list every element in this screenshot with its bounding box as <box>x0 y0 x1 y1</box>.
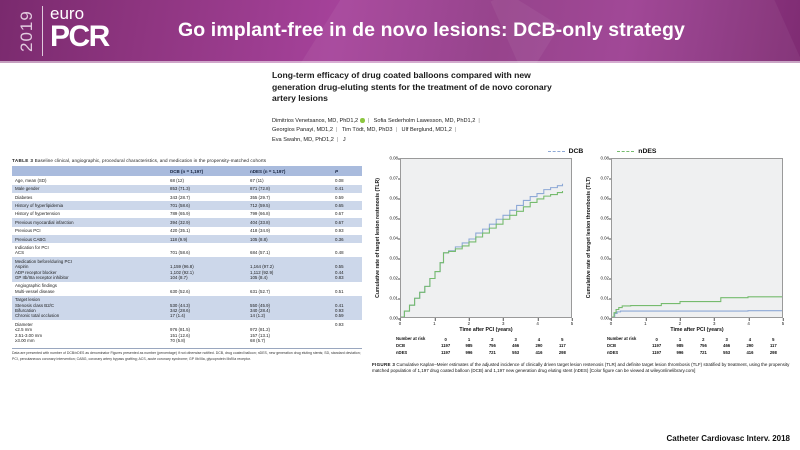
risk-time-header: 4 <box>527 336 550 343</box>
chart-legend: DCB nDES <box>372 148 792 155</box>
cell-dcb: 68 (12) <box>167 176 247 184</box>
cell-dcb: 530 (44.3) 342 (28.6) 17 (1.4) <box>167 296 247 321</box>
cell-ndes: 418 (34.9) <box>247 227 332 235</box>
series-line-dcb <box>401 184 563 317</box>
series-line-ndes <box>612 296 782 317</box>
chart-tlr-ylabel: Cumulative rate of target lesion resteno… <box>372 158 384 318</box>
chart-tlt: Cumulative rate of target lesion thrombo… <box>583 158 788 356</box>
figure-label: FIGURE 3 <box>372 362 395 367</box>
x-tick-label: 5 <box>782 321 784 326</box>
risk-value: 721 <box>481 349 504 356</box>
risk-value: 290 <box>738 343 761 350</box>
series-line-dcb <box>612 310 782 317</box>
cell-p: 0.08 <box>332 176 362 184</box>
y-tick-label: 0.04 <box>389 236 398 241</box>
cell-ndes: 550 (45.9) 340 (28.4) 14 (1.2) <box>247 296 332 321</box>
chart-tlt-plot <box>611 158 783 318</box>
table-row: Indication for PCI ACS 701 (58.6) 684 (5… <box>12 243 362 257</box>
col-header-dcb: DCB (n = 1,197) <box>167 166 247 176</box>
risk-row: DCB1197985756466290117 <box>605 343 785 350</box>
cell-ndes: 972 (81.2) 157 (13.1) 68 (5.7) <box>247 320 332 345</box>
table-row: History of hyperlipidemia701 (58.6)712 (… <box>12 201 362 209</box>
row-label: Previous CABG <box>12 235 167 243</box>
table-row: Diabetes343 (28.7)355 (29.7)0.59 <box>12 193 362 201</box>
risk-row-label: DCB <box>605 343 645 350</box>
table-header-row: DCB (n = 1,197) nDES (n = 1,197) P <box>12 166 362 176</box>
cell-dcb: 789 (65.9) <box>167 210 247 218</box>
risk-header-row: Number at risk012345 <box>394 336 574 343</box>
risk-value: 298 <box>551 349 574 356</box>
cell-dcb: 1,159 (96.8) 1,102 (92.1) 104 (8.7) <box>167 257 247 282</box>
y-tick-label: 0.02 <box>389 276 398 281</box>
risk-value: 756 <box>481 343 504 350</box>
cell-ndes: 712 (59.5) <box>247 201 332 209</box>
risk-time-header: 4 <box>738 336 761 343</box>
x-tick-label: 4 <box>747 321 749 326</box>
legend-label: nDES <box>638 148 656 155</box>
chart-tlr-yticks: 0.000.010.020.030.040.050.060.070.08 <box>384 158 400 318</box>
risk-time-header: 5 <box>551 336 574 343</box>
orcid-icon <box>360 118 365 123</box>
table-footnote: Data are presented with number of DCB/nD… <box>12 348 362 362</box>
table-row: Previous CABG118 (9.9)105 (8.8)0.36 <box>12 235 362 243</box>
cell-ndes: 404 (33.8) <box>247 218 332 226</box>
risk-time-header: 2 <box>481 336 504 343</box>
slide-header: 2019 euro PCR Go implant-free in de novo… <box>0 0 800 63</box>
risk-time-header: 3 <box>504 336 527 343</box>
x-tick-label: 3 <box>502 321 504 326</box>
cell-p: 0.48 <box>332 243 362 257</box>
risk-value: 117 <box>762 343 785 350</box>
paper-title: Long-term efficacy of drug coated balloo… <box>272 70 562 105</box>
chart-tlr-plot <box>400 158 572 318</box>
risk-value: 756 <box>692 343 715 350</box>
cell-ndes: 631 (52.7) <box>247 282 332 296</box>
y-tick-label: 0.07 <box>600 176 609 181</box>
y-tick-label: 0.00 <box>389 316 398 321</box>
cell-p: 0.36 <box>332 235 362 243</box>
risk-value: 290 <box>527 343 550 350</box>
risk-value: 985 <box>668 343 691 350</box>
risk-value: 1197 <box>645 349 668 356</box>
table-row: History of hypertension789 (65.9)799 (66… <box>12 210 362 218</box>
table-row: Target lesion Stenosis class B2/C Bifurc… <box>12 296 362 321</box>
cell-p: 0.67 <box>332 218 362 226</box>
author-name: Eva Swahn, MD, PhD1,2 <box>272 137 334 143</box>
y-tick-label: 0.02 <box>600 276 609 281</box>
chart-tlt-xlabel: Time after PCI (years) <box>611 327 783 333</box>
risk-time-header: 5 <box>762 336 785 343</box>
risk-value: 1197 <box>645 343 668 350</box>
col-header-blank <box>12 166 167 176</box>
risk-value: 1197 <box>434 343 457 350</box>
europcr-logo: 2019 euro PCR <box>18 6 109 58</box>
x-tick-label: 1 <box>644 321 646 326</box>
baseline-table-block: TABLE 3 Baseline clinical, angiographic,… <box>12 158 362 362</box>
risk-value: 996 <box>668 349 691 356</box>
risk-value: 721 <box>692 349 715 356</box>
cell-p: 0.59 <box>332 193 362 201</box>
y-tick-label: 0.04 <box>600 236 609 241</box>
journal-citation: Catheter Cardiovasc Interv. 2018 <box>667 434 790 443</box>
risk-value: 466 <box>715 343 738 350</box>
cell-dcb: 420 (35.1) <box>167 227 247 235</box>
row-label: Male gender <box>12 185 167 193</box>
row-label: Diameter ≤2.5 mm 2.51-3.00 mm ≥3.00 mm <box>12 320 167 345</box>
table-row: Angiographic findings Multi-vessel disea… <box>12 282 362 296</box>
table-row: Previous PCI420 (35.1)418 (34.9)0.93 <box>12 227 362 235</box>
risk-row: nDES1197996721553416298 <box>605 349 785 356</box>
cell-ndes: 799 (66.8) <box>247 210 332 218</box>
row-label: Target lesion Stenosis class B2/C Bifurc… <box>12 296 167 321</box>
cell-dcb: 118 (9.9) <box>167 235 247 243</box>
author-name: Ulf Berglund, MD1,2 <box>402 127 452 133</box>
y-tick-label: 0.06 <box>600 196 609 201</box>
table-label: TABLE 3 <box>12 158 33 163</box>
risk-time-header: 0 <box>645 336 668 343</box>
risk-value: 416 <box>738 349 761 356</box>
logo-pcr-text: PCR <box>50 22 109 51</box>
row-label: Diabetes <box>12 193 167 201</box>
x-tick-label: 5 <box>571 321 573 326</box>
author-line-1: Dimitrios Venetsanos, MD, PhD1,2| Sofia … <box>272 117 572 126</box>
slide-root: 2019 euro PCR Go implant-free in de novo… <box>0 0 800 450</box>
legend-label: DCB <box>569 148 584 155</box>
chart-tlt-yticks: 0.000.010.020.030.040.050.060.070.08 <box>595 158 611 318</box>
row-label: Medication before/during PCI Aspirin ADP… <box>12 257 167 282</box>
y-tick-label: 0.08 <box>389 156 398 161</box>
risk-row: nDES1197996721553416298 <box>394 349 574 356</box>
figure-block: DCB nDES Cumulative rate of target lesio… <box>372 148 792 375</box>
author-list: Dimitrios Venetsanos, MD, PhD1,2| Sofia … <box>272 117 572 145</box>
chart-tlr-xlabel: Time after PCI (years) <box>400 327 572 333</box>
series-line-ndes <box>401 191 563 317</box>
risk-header-label: Number at risk <box>605 336 645 343</box>
table-caption-text: Baseline clinical, angiographic, procedu… <box>35 158 267 163</box>
x-tick-label: 4 <box>536 321 538 326</box>
cell-dcb: 701 (58.6) <box>167 201 247 209</box>
row-label: History of hypertension <box>12 210 167 218</box>
y-tick-label: 0.03 <box>600 256 609 261</box>
risk-value: 1197 <box>434 349 457 356</box>
y-tick-label: 0.06 <box>389 196 398 201</box>
table-row: Diameter ≤2.5 mm 2.51-3.00 mm ≥3.00 mm 9… <box>12 320 362 345</box>
x-tick-label: 0 <box>399 321 401 326</box>
y-tick-label: 0.07 <box>389 176 398 181</box>
risk-time-header: 1 <box>457 336 480 343</box>
risk-value: 298 <box>762 349 785 356</box>
figure-caption: FIGURE 3 Cumulative Kaplan–Meier estimat… <box>372 362 790 375</box>
author-name: Dimitrios Venetsanos, MD, PhD1,2 <box>272 118 358 124</box>
risk-table-left: Number at risk012345DCB11979857564662901… <box>394 336 574 356</box>
cell-p: 0.93 <box>332 227 362 235</box>
charts-row: Cumulative rate of target lesion resteno… <box>372 158 792 356</box>
x-tick-label: 2 <box>468 321 470 326</box>
cell-p: 0.93 <box>332 320 362 345</box>
risk-row-label: nDES <box>605 349 645 356</box>
row-label: History of hyperlipidemia <box>12 201 167 209</box>
risk-table-right: Number at risk012345DCB11979857564662901… <box>605 336 785 356</box>
cell-p: 0.41 <box>332 185 362 193</box>
legend-line-icon <box>548 151 565 152</box>
cell-ndes: 67 (11) <box>247 176 332 184</box>
chart-tlr: Cumulative rate of target lesion resteno… <box>372 158 577 356</box>
baseline-table: DCB (n = 1,197) nDES (n = 1,197) P Age, … <box>12 166 362 345</box>
table-row: Medication before/during PCI Aspirin ADP… <box>12 257 362 282</box>
row-label: Previous myocardial infarction <box>12 218 167 226</box>
legend-line-icon <box>617 151 634 152</box>
cell-dcb: 394 (32.9) <box>167 218 247 226</box>
y-tick-label: 0.08 <box>600 156 609 161</box>
author-name: Georgios Panayi, MD1,2 <box>272 127 333 133</box>
risk-value: 553 <box>504 349 527 356</box>
risk-value: 466 <box>504 343 527 350</box>
cell-ndes: 355 (29.7) <box>247 193 332 201</box>
x-tick-label: 1 <box>433 321 435 326</box>
cell-ndes: 871 (72.8) <box>247 185 332 193</box>
table-caption: TABLE 3 Baseline clinical, angiographic,… <box>12 158 362 163</box>
cell-dcb: 701 (58.6) <box>167 243 247 257</box>
y-tick-label: 0.00 <box>600 316 609 321</box>
figure-caption-text: Cumulative Kaplan–Meier estimates of the… <box>372 362 789 374</box>
risk-value: 996 <box>457 349 480 356</box>
row-label: Angiographic findings Multi-vessel disea… <box>12 282 167 296</box>
page-title: Go implant-free in de novo lesions: DCB-… <box>178 19 778 42</box>
chart-tlt-ylabel: Cumulative rate of target lesion thrombo… <box>583 158 595 318</box>
cell-dcb: 976 (81.5) 151 (12.6) 70 (5.8) <box>167 320 247 345</box>
risk-value: 985 <box>457 343 480 350</box>
cell-p: 0.55 0.44 0.83 <box>332 257 362 282</box>
author-line-2: Georgios Panayi, MD1,2| Tim Tödt, MD, Ph… <box>272 126 572 135</box>
cell-ndes: 684 (57.1) <box>247 243 332 257</box>
y-tick-label: 0.01 <box>389 296 398 301</box>
y-tick-label: 0.05 <box>600 216 609 221</box>
author-name: Sofia Sederholm Lawesson, MD, PhD1,2 <box>374 118 476 124</box>
col-header-p: P <box>332 166 362 176</box>
author-name: J <box>343 137 346 143</box>
y-tick-label: 0.01 <box>600 296 609 301</box>
cell-ndes: 1,164 (97.2) 1,112 (92.9) 105 (8.4) <box>247 257 332 282</box>
risk-time-header: 3 <box>715 336 738 343</box>
author-line-3: Eva Swahn, MD, PhD1,2| J <box>272 136 572 145</box>
y-tick-label: 0.05 <box>389 216 398 221</box>
risk-value: 416 <box>527 349 550 356</box>
cell-dcb: 630 (52.6) <box>167 282 247 296</box>
table-row: Age, mean (SD)68 (12)67 (11)0.08 <box>12 176 362 184</box>
table-row: Male gender853 (71.3)871 (72.8)0.41 <box>12 185 362 193</box>
cell-p: 0.41 0.93 0.59 <box>332 296 362 321</box>
col-header-ndes: nDES (n = 1,197) <box>247 166 332 176</box>
cell-p: 0.51 <box>332 282 362 296</box>
baseline-table-body: Age, mean (SD)68 (12)67 (11)0.08Male gen… <box>12 176 362 345</box>
risk-value: 117 <box>551 343 574 350</box>
y-tick-label: 0.03 <box>389 256 398 261</box>
risk-row: DCB1197985756466290117 <box>394 343 574 350</box>
row-label: Previous PCI <box>12 227 167 235</box>
risk-row-label: DCB <box>394 343 434 350</box>
risk-time-header: 2 <box>692 336 715 343</box>
row-label: Indication for PCI ACS <box>12 243 167 257</box>
header-underline <box>0 61 800 63</box>
cell-dcb: 853 (71.3) <box>167 185 247 193</box>
cell-dcb: 343 (28.7) <box>167 193 247 201</box>
logo-divider <box>42 6 43 56</box>
row-label: Age, mean (SD) <box>12 176 167 184</box>
cell-ndes: 105 (8.8) <box>247 235 332 243</box>
x-tick-label: 3 <box>713 321 715 326</box>
table-row: Previous myocardial infarction394 (32.9)… <box>12 218 362 226</box>
cell-p: 0.65 <box>332 201 362 209</box>
risk-row-label: nDES <box>394 349 434 356</box>
author-name: Tim Tödt, MD, PhD3 <box>342 127 393 133</box>
risk-value: 553 <box>715 349 738 356</box>
x-tick-label: 0 <box>610 321 612 326</box>
risk-time-header: 0 <box>434 336 457 343</box>
risk-header-label: Number at risk <box>394 336 434 343</box>
legend-item-ndes: nDES <box>617 148 656 155</box>
risk-header-row: Number at risk012345 <box>605 336 785 343</box>
risk-time-header: 1 <box>668 336 691 343</box>
cell-p: 0.67 <box>332 210 362 218</box>
logo-year: 2019 <box>18 6 35 56</box>
legend-item-dcb: DCB <box>548 148 584 155</box>
logo-wordmark: euro PCR <box>50 6 109 51</box>
x-tick-label: 2 <box>679 321 681 326</box>
